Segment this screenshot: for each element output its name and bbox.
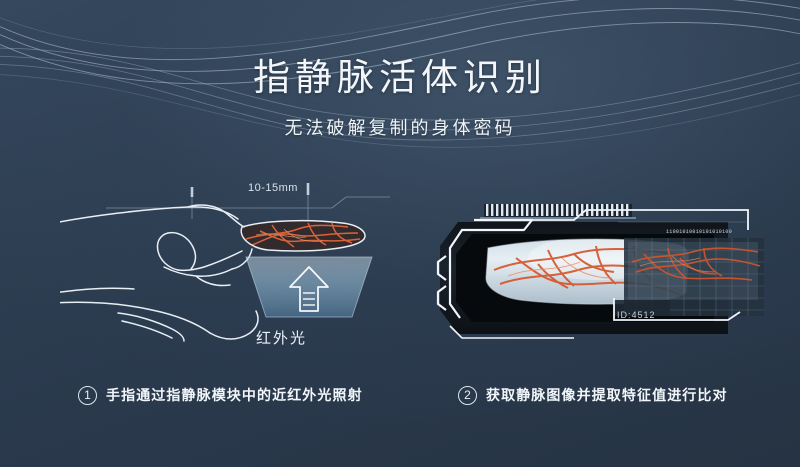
scan-id-label: ID:4512	[617, 310, 656, 320]
step-description: 手指通过指静脉模块中的近红外光照射	[106, 385, 363, 405]
analysis-panel	[614, 238, 764, 320]
step-description: 获取静脉图像并提取特征值进行比对	[486, 385, 728, 405]
hand-outline	[60, 205, 258, 341]
scanner-device-illustration	[428, 200, 784, 360]
binary-stream-label: 11001010010101010100	[666, 229, 732, 235]
hand-illustration	[60, 175, 440, 365]
page-title: 指静脉活体识别	[0, 56, 800, 100]
caption-step-1: 1 手指通过指静脉模块中的近红外光照射	[78, 385, 363, 405]
led-array	[480, 204, 636, 219]
dimension-label: 10-15mm	[248, 182, 298, 194]
step-number-badge: 2	[458, 386, 477, 405]
step-number-badge: 1	[78, 386, 97, 405]
header-block: 指静脉活体识别 无法破解复制的身体密码	[0, 56, 800, 140]
infrared-light-label: 红外光	[256, 327, 307, 348]
caption-step-2: 2 获取静脉图像并提取特征值进行比对	[458, 385, 728, 405]
page-subtitle: 无法破解复制的身体密码	[0, 114, 800, 140]
ir-module	[246, 257, 372, 317]
infographic-slide: 指静脉活体识别 无法破解复制的身体密码	[0, 0, 800, 467]
